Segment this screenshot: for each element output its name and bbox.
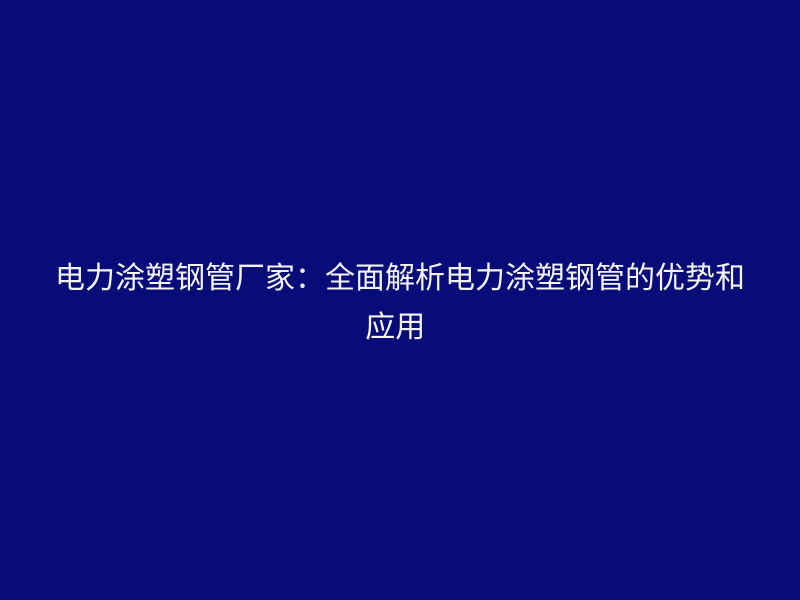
page-title: 电力涂塑钢管厂家：全面解析电力涂塑钢管的优势和应用 xyxy=(55,254,745,352)
title-block: 电力涂塑钢管厂家：全面解析电力涂塑钢管的优势和应用 xyxy=(55,254,745,352)
slide-canvas: 电力涂塑钢管厂家：全面解析电力涂塑钢管的优势和应用 xyxy=(0,0,800,600)
